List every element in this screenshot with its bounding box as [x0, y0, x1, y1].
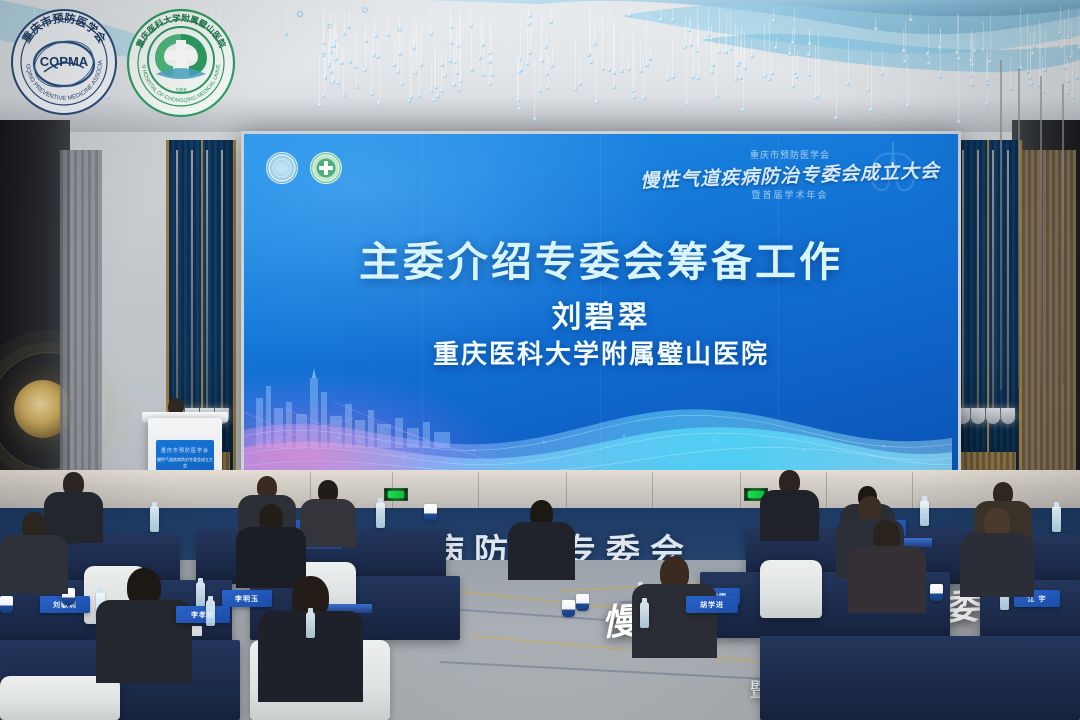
water-bottle	[206, 600, 215, 626]
chair	[760, 560, 822, 618]
slide-cqpma-logo	[266, 152, 298, 184]
led-screen-frame: 重庆市预防医学会 慢性气道疾病防治专委会成立大会 暨首届学术年会 主委介绍专委会…	[241, 131, 961, 485]
led-screen-content: 重庆市预防医学会 慢性气道疾病防治专委会成立大会 暨首届学术年会 主委介绍专委会…	[244, 134, 958, 482]
wave-mesh-graphic	[244, 352, 958, 482]
overlay-logo-bishan-hospital: 1958 重庆医科大学附属璧山医院 BISHAN HOSPITAL OF CHO…	[126, 8, 236, 123]
slide-header-line3: 暨首届学术年会	[640, 188, 940, 201]
podium-sign-line1: 重庆市预防医学会	[156, 447, 214, 454]
overlay-logo-cqpma: CQPMA 重庆市预防医学会 CHONGQING PREVENTIVE MEDI…	[10, 8, 118, 121]
slide-speaker-name: 刘碧翠	[244, 292, 958, 336]
svg-text:1958: 1958	[175, 88, 186, 94]
water-bottle	[640, 602, 649, 628]
paper-cup	[424, 504, 437, 521]
slide-title: 主委介绍专委会筹备工作	[244, 228, 958, 288]
paper-cup	[930, 584, 943, 601]
paper-cup	[562, 600, 575, 617]
right-wood-slat-panel	[1022, 150, 1076, 480]
slide-header-block: 重庆市预防医学会 慢性气道疾病防治专委会成立大会 暨首届学术年会	[640, 148, 940, 201]
name-placard: 李孝鹏	[176, 606, 230, 623]
exit-sign-left	[384, 488, 408, 501]
name-placard: 胡学进	[686, 596, 738, 613]
paper-cup	[576, 594, 589, 611]
slide-corner-logos	[266, 152, 342, 184]
podium-sign-line2: 慢性气道疾病防治专委会成立大会	[156, 457, 214, 469]
conference-table	[760, 636, 1080, 720]
pink-glow	[244, 372, 504, 482]
paper-cup	[0, 596, 13, 613]
water-bottle	[920, 500, 929, 526]
water-bottle	[1052, 506, 1061, 532]
conference-photo-scene: 重庆市预防医学会 慢性气道疾病防治专委会成立大会 暨首届学术年会 主委介绍专委会…	[0, 0, 1080, 720]
left-curtain	[60, 150, 102, 490]
water-bottle	[306, 612, 315, 638]
name-placard: 李明玉	[222, 590, 272, 607]
water-bottle	[376, 502, 385, 528]
svg-text:CQPMA: CQPMA	[40, 54, 89, 69]
slide-bishan-hospital-logo	[310, 152, 342, 184]
water-bottle	[150, 506, 159, 532]
water-bottle	[196, 582, 205, 608]
